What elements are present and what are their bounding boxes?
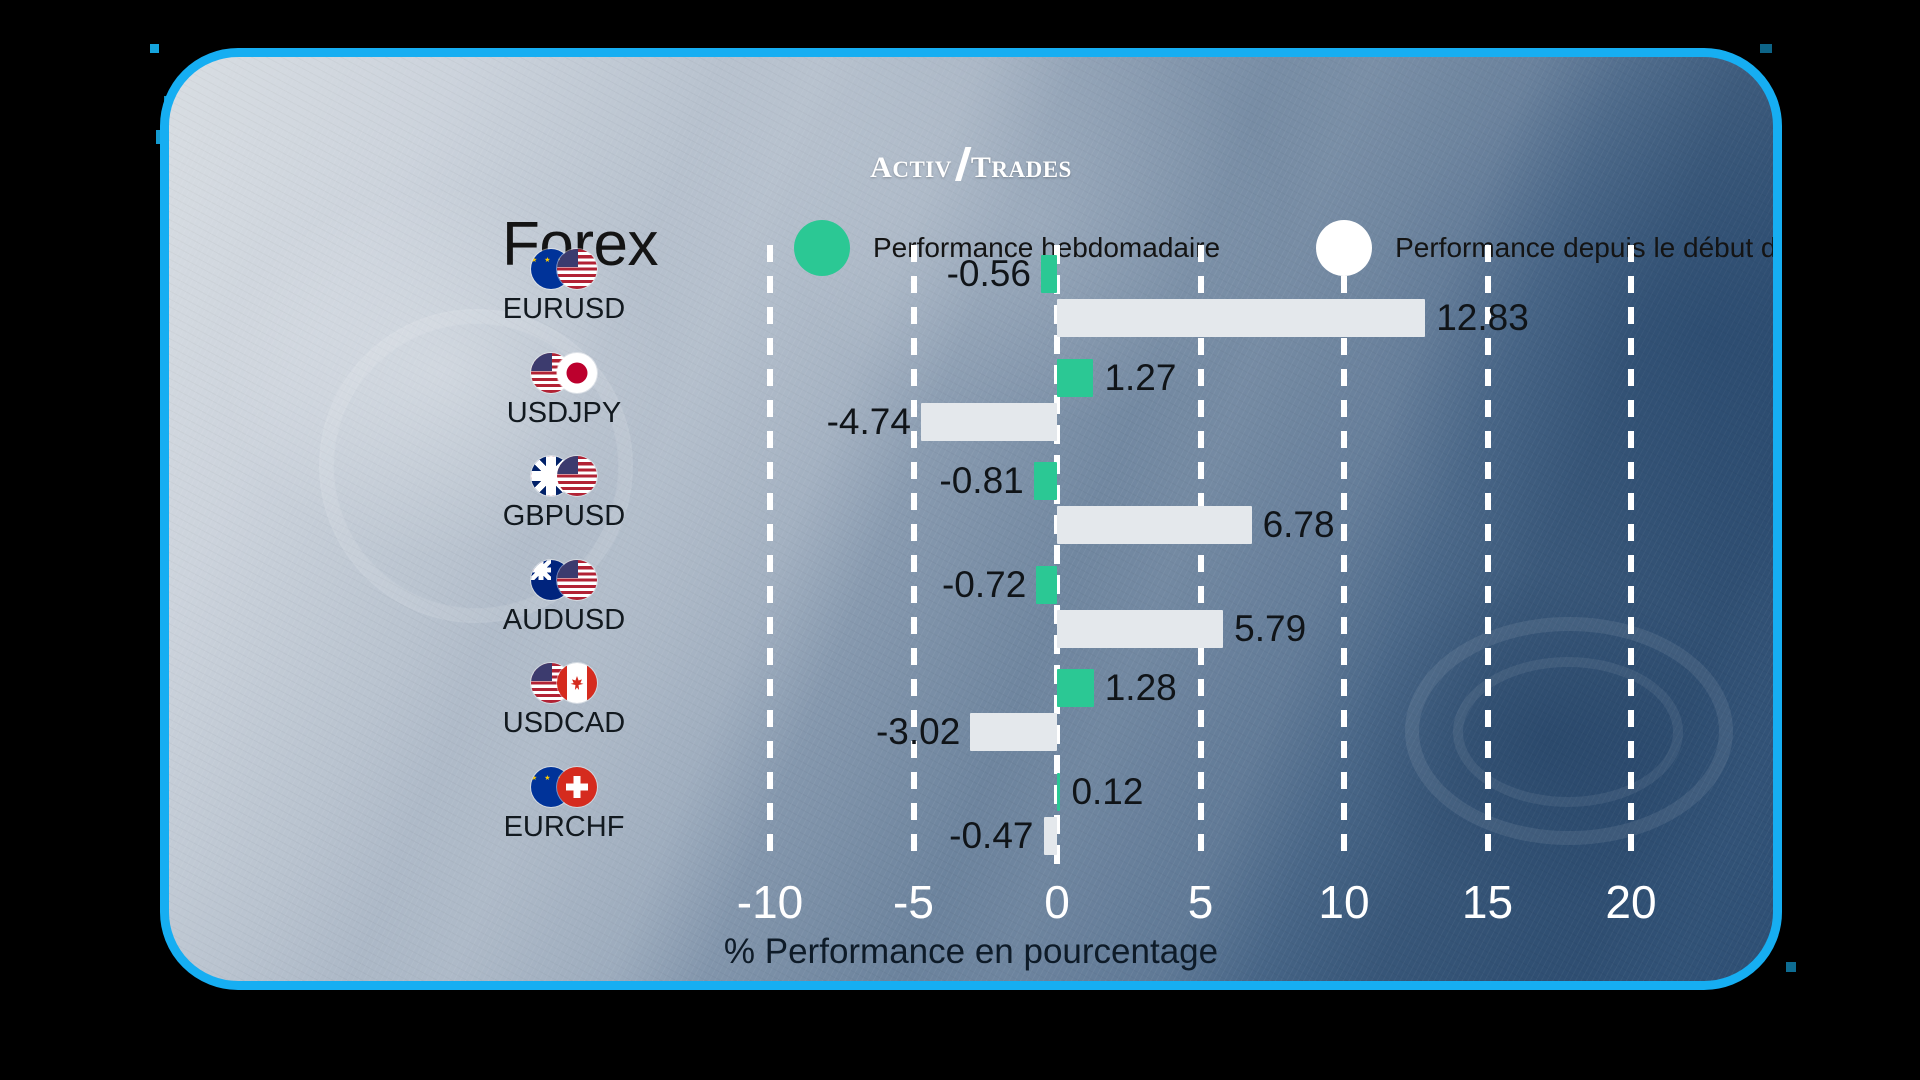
flag-eu-icon [531,767,571,807]
banknote-seal [319,309,633,623]
x-tick-label: 5 [1188,875,1214,929]
screenshot-root: ACTIVTRADES Forex Performance hebdomadai… [0,0,1920,1080]
bar-audusd-ytd [1057,610,1223,648]
legend-label-ytd: Performance depuis le début de l'année [1395,232,1782,264]
gridline-5 [1198,245,1204,865]
bar-eurusd-ytd [1057,299,1425,337]
chart-card: ACTIVTRADES Forex Performance hebdomadai… [160,48,1782,990]
bar-usdjpy-ytd [921,403,1057,441]
circle-marker-icon [794,220,850,276]
glitch-artifact [150,44,159,53]
bar-value-label: 1.27 [1104,359,1176,397]
bar-usdcad-weekly [1057,669,1094,707]
bar-gbpusd-weekly [1034,462,1057,500]
x-tick-label: 20 [1605,875,1656,929]
x-tick-label: -10 [737,875,803,929]
gridline-10 [1341,245,1347,865]
bar-value-label: 12.83 [1436,299,1529,337]
bar-eurchf-weekly [1057,773,1060,811]
bar-eurchf-ytd [1044,817,1057,855]
banknote-oval-inner [1453,657,1683,807]
bar-value-label: 6.78 [1263,506,1335,544]
glitch-artifact [1786,962,1796,972]
logo-letter-t: T [971,151,992,185]
bar-usdjpy-weekly [1057,359,1093,397]
logo-text-ctiv: CTIV [892,157,952,183]
logo-slash-icon [955,147,970,181]
x-tick-label: -5 [893,875,934,929]
x-tick-label: 0 [1044,875,1070,929]
bar-value-label: -3.02 [169,713,960,751]
bar-value-label: -0.72 [169,566,1026,604]
x-tick-label: 10 [1318,875,1369,929]
gridline--10 [767,245,773,865]
x-tick-label: 15 [1462,875,1513,929]
logo-text-rades: RADES [991,157,1071,183]
bar-value-label: 5.79 [1234,610,1306,648]
logo-letter-a: A [870,151,892,185]
bar-value-label: -0.47 [169,817,1034,855]
category-label-usdcad: USDCAD [499,707,629,740]
activtrades-logo: ACTIVTRADES [870,143,1072,185]
bar-gbpusd-ytd [1057,506,1252,544]
bar-usdcad-ytd [970,713,1057,751]
flag-ca-icon [557,663,597,703]
gridline-0 [1054,245,1060,865]
currency-flag-pair [499,663,629,703]
x-axis-title: % Performance en pourcentage [724,932,1218,972]
bar-value-label: 1.28 [1105,669,1177,707]
page-title: Forex [502,209,658,280]
category-label-eurchf: EURCHF [499,811,629,844]
legend-label-weekly: Performance hebdomadaire [873,232,1220,264]
bar-value-label: 0.12 [1071,773,1143,811]
flag-ch-icon [557,767,597,807]
legend-item-weekly: Performance hebdomadaire [794,220,1220,276]
flag-us-icon [531,663,571,703]
circle-marker-icon [1316,220,1372,276]
glitch-artifact [1760,44,1772,53]
currency-flag-pair [499,767,629,807]
chart-legend: Performance hebdomadaire Performance dep… [794,220,1782,276]
bar-audusd-weekly [1036,566,1057,604]
gridline--5 [911,245,917,865]
legend-item-ytd: Performance depuis le début de l'année [1316,220,1782,276]
